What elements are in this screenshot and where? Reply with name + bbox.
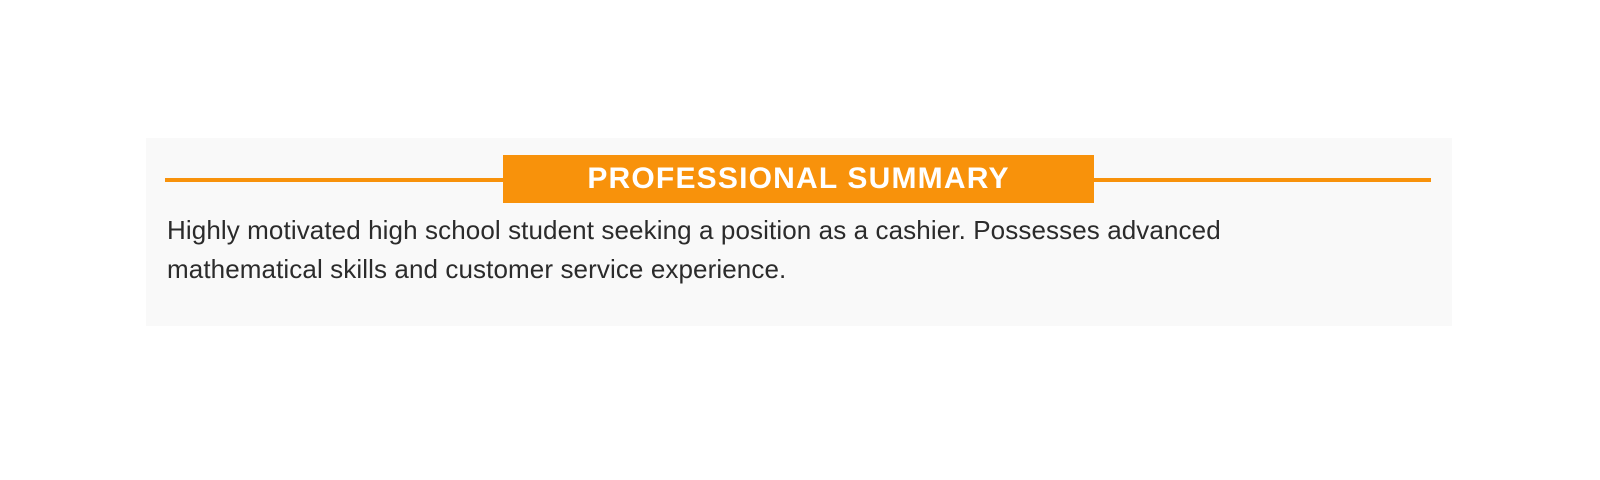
section-header: PROFESSIONAL SUMMARY bbox=[146, 138, 1452, 203]
summary-paragraph: Highly motivated high school student see… bbox=[167, 211, 1372, 289]
section-title-text: PROFESSIONAL SUMMARY bbox=[587, 164, 1009, 194]
section-body: Highly motivated high school student see… bbox=[167, 211, 1372, 289]
professional-summary-section: PROFESSIONAL SUMMARY Highly motivated hi… bbox=[146, 138, 1452, 326]
section-title-banner: PROFESSIONAL SUMMARY bbox=[503, 155, 1094, 203]
